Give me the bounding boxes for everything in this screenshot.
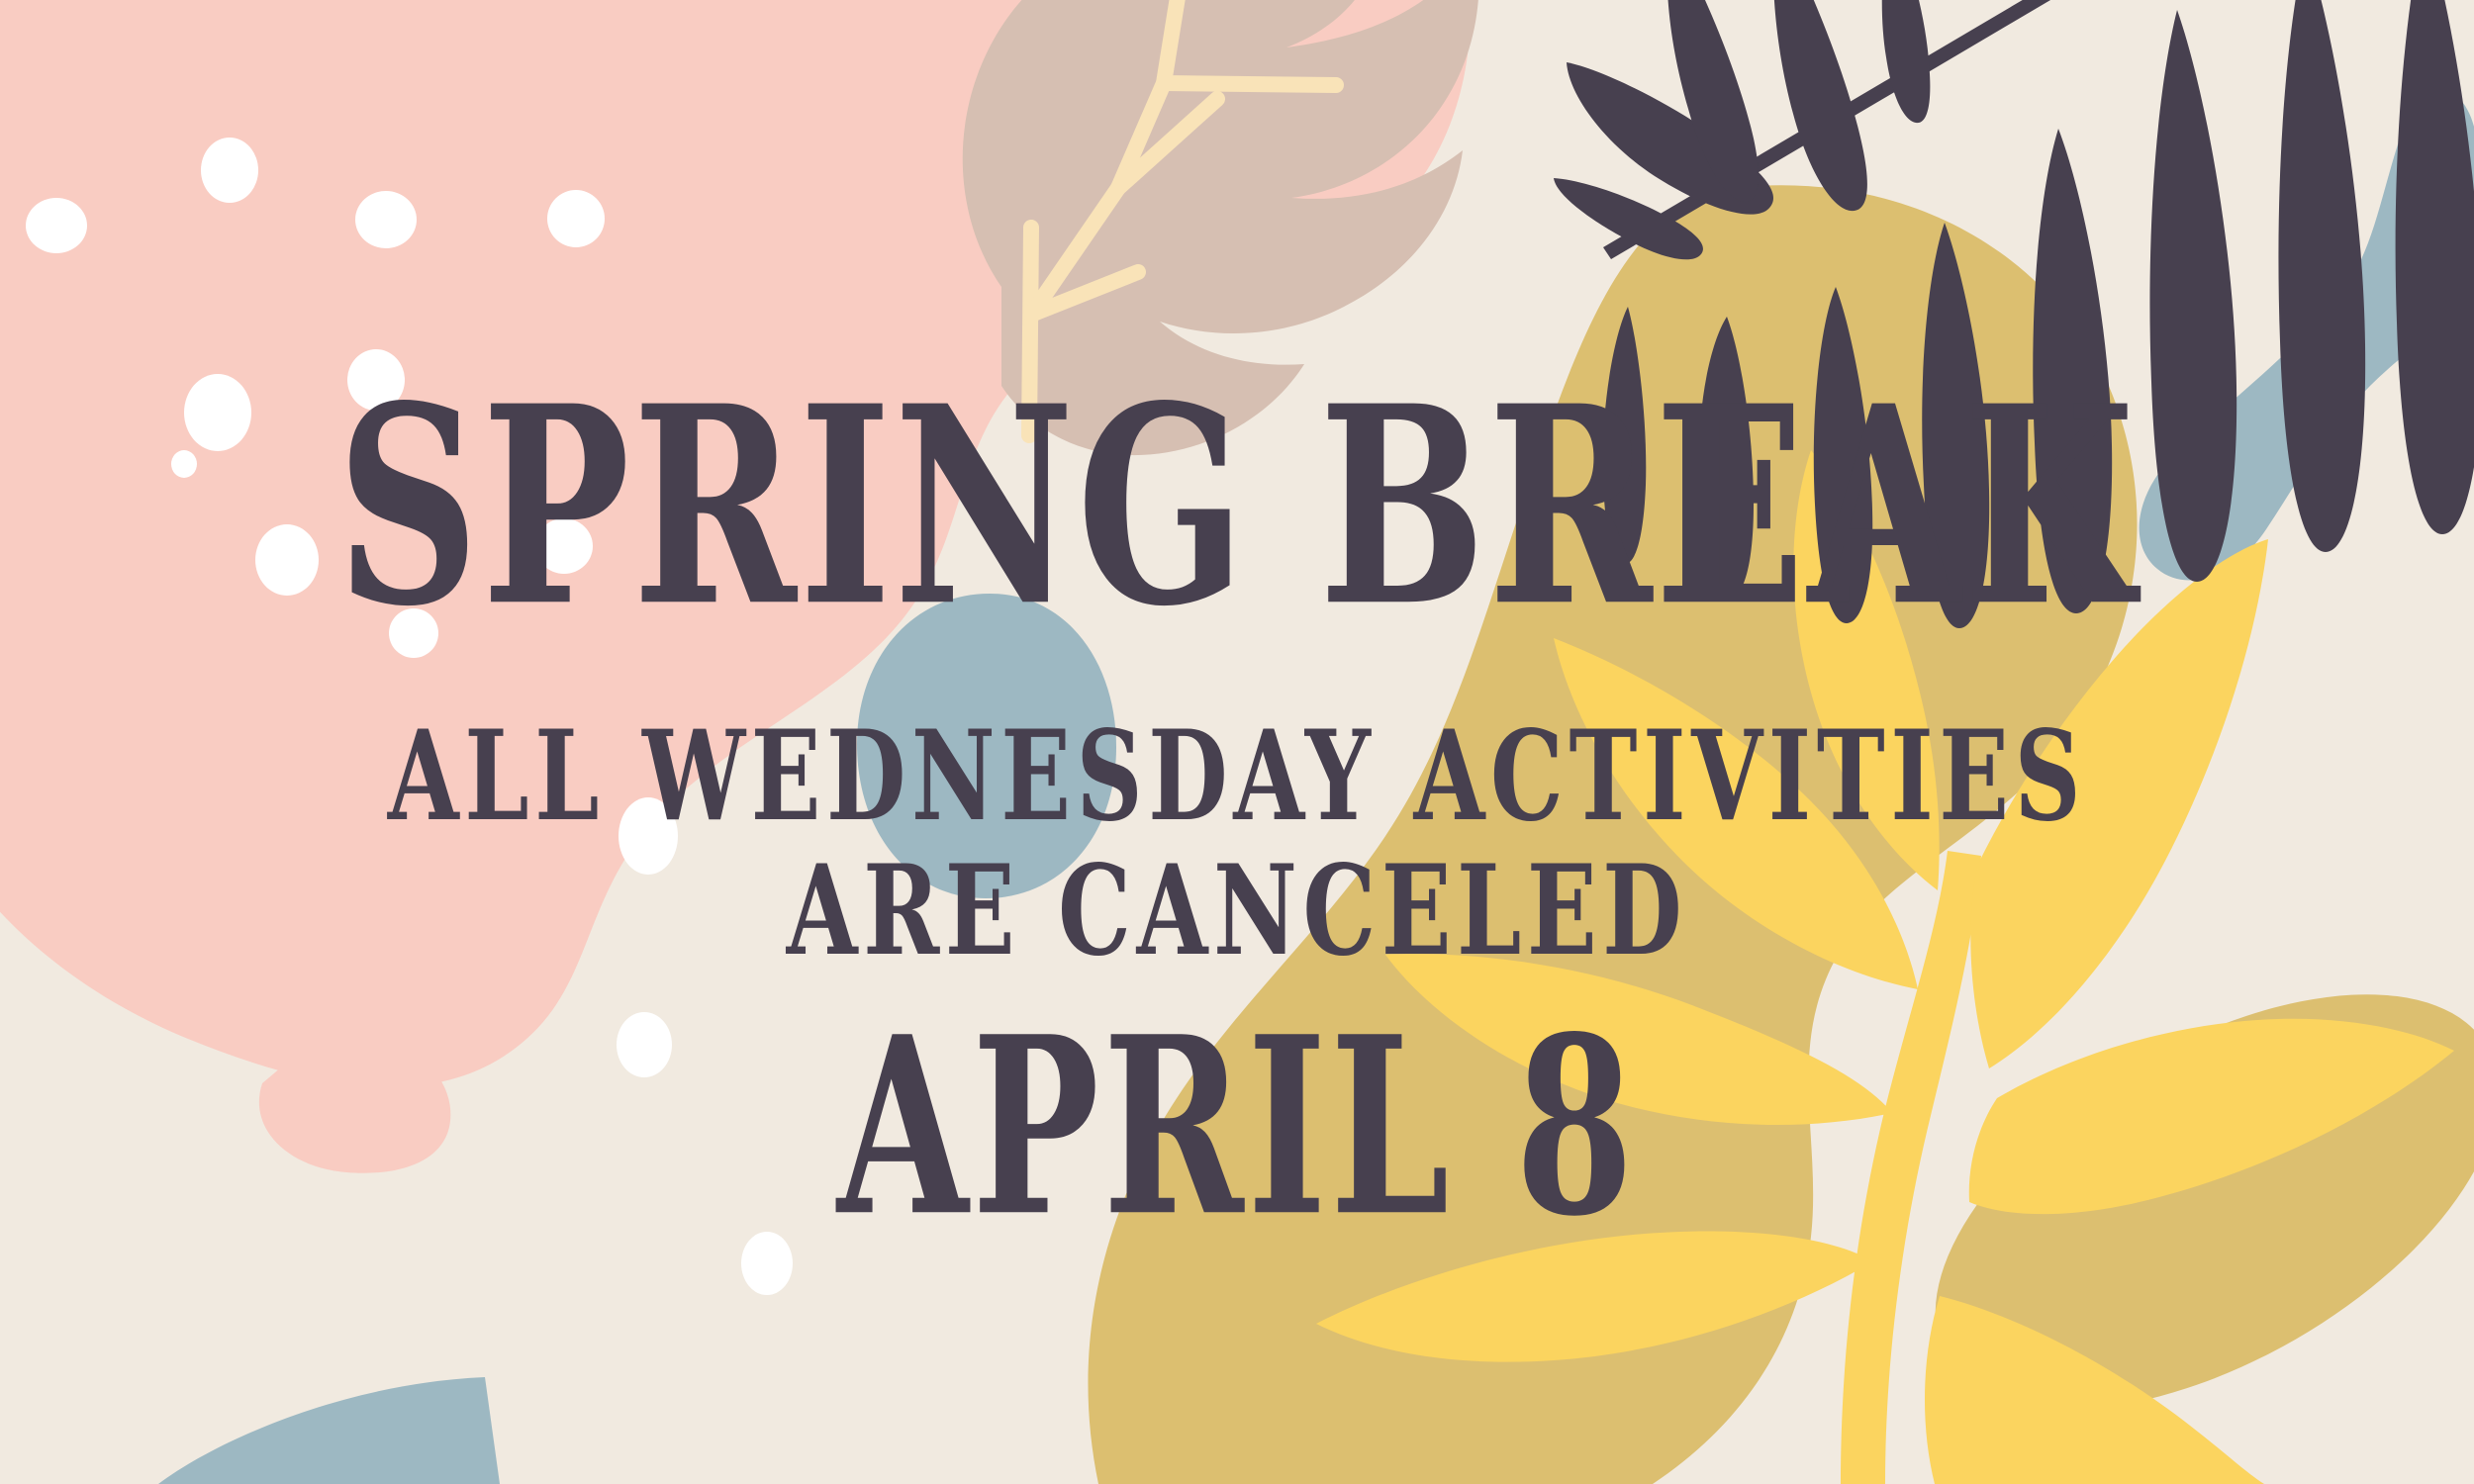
dusty-blue-egg-shape bbox=[857, 594, 1116, 898]
spring-break-announcement-poster: SPRING BREAK ALL WEDNESDAY ACTIVITIES AR… bbox=[0, 0, 2474, 1484]
decorative-background-artwork bbox=[0, 0, 2474, 1484]
